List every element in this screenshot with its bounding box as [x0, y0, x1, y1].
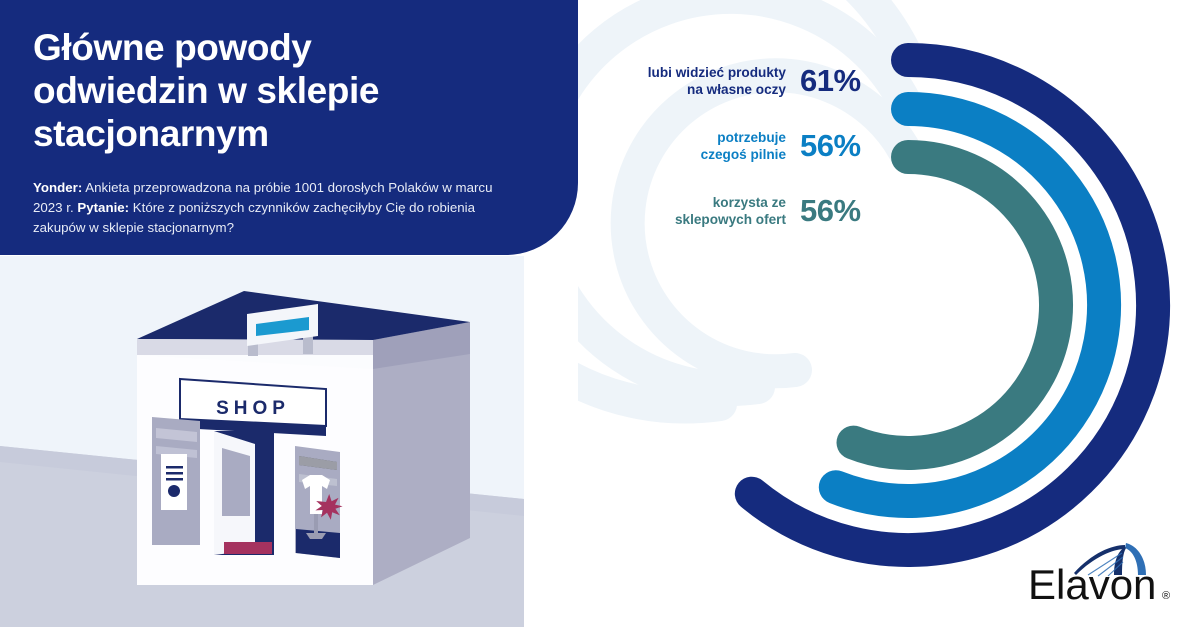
chart-legend: lubi widzieć produkty na własne oczy 61%… [596, 58, 884, 253]
store-display-window [295, 446, 343, 558]
page-title: Główne powody odwiedzin w sklepie stacjo… [33, 27, 518, 156]
source-label: Yonder: [33, 180, 82, 195]
ring-chart: lubi widzieć produkty na własne oczy 61%… [578, 0, 1200, 627]
legend-row-inner: korzysta ze sklepowych ofert 56% [596, 188, 884, 234]
elavon-registered-mark: ® [1162, 590, 1170, 602]
infographic-root: Główne powody odwiedzin w sklepie stacjo… [0, 0, 1200, 627]
legend-row-middle: potrzebuje czegoś pilnie 56% [596, 123, 884, 169]
legend-value-outer: 61% [800, 63, 884, 99]
legend-value-middle: 56% [800, 128, 884, 164]
store-illustration: SHOP [0, 256, 524, 627]
elavon-logo-svg: Elavon ® [1022, 535, 1182, 607]
legend-row-outer: lubi widzieć produkty na własne oczy 61% [596, 58, 884, 104]
store-illustration-panel: SHOP [0, 256, 524, 627]
legend-label-outer: lubi widzieć produkty na własne oczy [648, 64, 786, 98]
store-doorway [214, 431, 274, 555]
elavon-wordmark: Elavon [1028, 561, 1156, 607]
legend-label-middle: potrzebuje czegoś pilnie [701, 129, 786, 163]
question-label: Pytanie: [77, 200, 129, 215]
elavon-logo: Elavon ® [1022, 535, 1182, 607]
source-note: Yonder: Ankieta przeprowadzona na próbie… [33, 178, 515, 238]
header-panel: Główne powody odwiedzin w sklepie stacjo… [0, 0, 578, 255]
shop-sign: SHOP [180, 379, 326, 436]
store-left-window [152, 417, 200, 545]
legend-value-inner: 56% [800, 193, 884, 229]
shop-sign-text: SHOP [216, 398, 290, 419]
legend-label-inner: korzysta ze sklepowych ofert [675, 194, 786, 228]
